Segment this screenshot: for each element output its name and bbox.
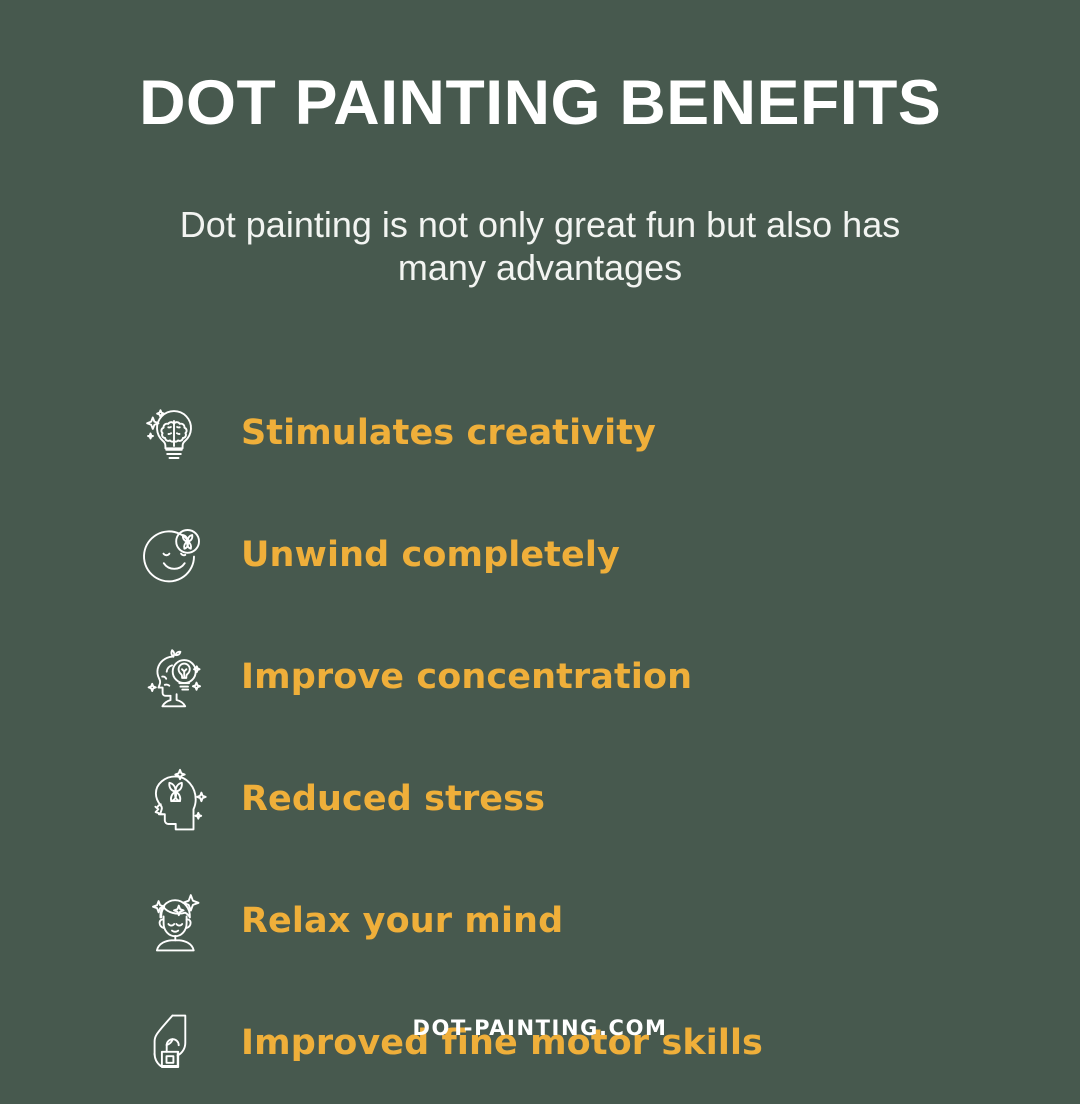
- benefit-label: Improve concentration: [241, 657, 692, 697]
- benefit-label: Stimulates creativity: [241, 413, 656, 453]
- head-lotus-icon: [137, 761, 213, 837]
- benefit-item: Stimulates creativity: [0, 372, 1080, 494]
- benefit-item: Improved fine motor skills: [0, 982, 1080, 1104]
- benefits-list: Stimulates creativity Unwind complet: [0, 372, 1080, 1104]
- calm-face-sparkle-icon: [137, 883, 213, 959]
- benefit-label: Reduced stress: [241, 779, 545, 819]
- benefit-item: Reduced stress: [0, 738, 1080, 860]
- smiley-face-flower-icon: [137, 517, 213, 593]
- footer-website[interactable]: DOT-PAINTING.COM: [0, 1016, 1080, 1040]
- benefit-label: Relax your mind: [241, 901, 563, 941]
- page-title: DOT PAINTING BENEFITS: [139, 72, 941, 135]
- page-subtitle: Dot painting is not only great fun but a…: [145, 203, 935, 289]
- head-lightbulb-icon: [137, 639, 213, 715]
- benefit-item: Improve concentration: [0, 616, 1080, 738]
- benefit-label: Unwind completely: [241, 535, 620, 575]
- lightbulb-brain-icon: [137, 395, 213, 471]
- benefit-item: Relax your mind: [0, 860, 1080, 982]
- benefit-item: Unwind completely: [0, 494, 1080, 616]
- infographic-poster: DOT PAINTING BENEFITS Dot painting is no…: [0, 0, 1080, 1080]
